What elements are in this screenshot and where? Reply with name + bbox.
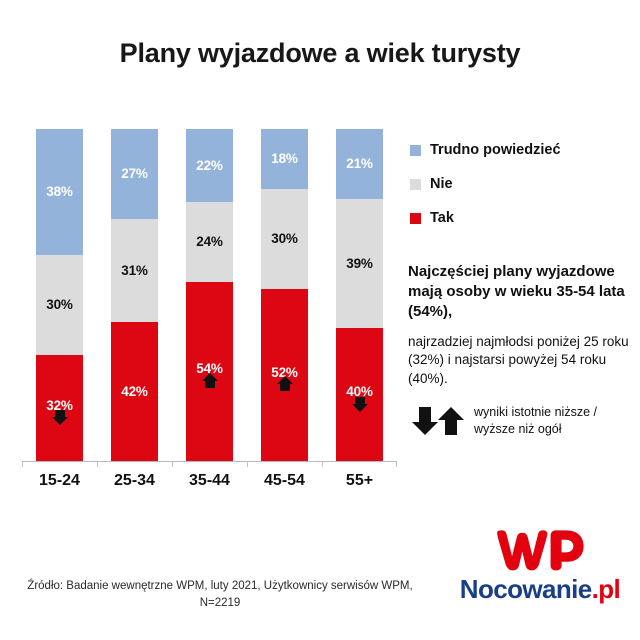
wp-logo-icon (490, 528, 586, 572)
bar-segment-trudno-powiedziec[interactable]: 18% (261, 129, 308, 189)
x-axis-label-35-44: 35-44 (172, 472, 247, 490)
arrow-down-icon (412, 407, 438, 435)
legend-item-tak[interactable]: Tak (410, 210, 630, 226)
significance-note: wyniki istotnie niższe / wyższe niż ogół (410, 404, 636, 438)
bar-value-label: 22% (196, 159, 222, 173)
bar-segment-trudno-powiedziec[interactable]: 21% (336, 129, 383, 199)
significance-arrows (410, 404, 466, 438)
chart-plot-area: 38% 30% 32% 27% 31% 42% 22% 24% 54% (22, 130, 397, 462)
legend-swatch-icon (410, 179, 421, 190)
x-axis-tick (172, 462, 173, 467)
legend-swatch-icon (410, 145, 421, 156)
legend-label: Trudno powiedzieć (430, 142, 561, 158)
bar-segment-nie[interactable]: 30% (261, 189, 308, 289)
legend-item-trudno-powiedziec[interactable]: Trudno powiedzieć (410, 142, 630, 158)
bar-segment-tak[interactable]: 42% (111, 322, 158, 461)
brand-name: Nocowanie (460, 574, 592, 604)
legend-label: Nie (430, 176, 453, 192)
source-note: Źródło: Badanie wewnętrzne WPM, luty 202… (20, 578, 420, 613)
bar-group-35-44[interactable]: 22% 24% 54% (186, 129, 233, 461)
x-axis-label-25-34: 25-34 (97, 472, 172, 490)
commentary-panel: Najczęściej plany wyjazdowe mają osoby w… (408, 262, 634, 389)
legend-item-nie[interactable]: Nie (410, 176, 630, 192)
legend-label: Tak (430, 210, 454, 226)
significance-note-text: wyniki istotnie niższe / wyższe niż ogół (474, 404, 636, 438)
arrow-up-icon (438, 407, 464, 435)
bar-group-55-plus[interactable]: 21% 39% 40% (336, 129, 383, 461)
bar-segment-tak[interactable]: 40% (336, 328, 383, 461)
commentary-headline: Najczęściej plany wyjazdowe mają osoby w… (408, 262, 634, 322)
bar-value-label: 18% (271, 152, 297, 166)
brand-wordmark: Nocowanie.pl (452, 574, 628, 605)
brand-tld: .pl (592, 574, 621, 604)
legend-swatch-icon (410, 213, 421, 224)
bar-value-label: 27% (121, 167, 147, 181)
brand-logo[interactable]: Nocowanie.pl (452, 528, 628, 610)
bar-group-25-34[interactable]: 27% 31% 42% (111, 129, 158, 461)
bar-value-label: 38% (46, 185, 72, 199)
x-axis-line (22, 461, 397, 462)
bar-value-label: 31% (121, 264, 147, 278)
bar-segment-trudno-powiedziec[interactable]: 38% (36, 129, 83, 255)
bar-segment-nie[interactable]: 24% (186, 202, 233, 282)
x-axis-labels: 15-24 25-34 35-44 45-54 55+ (22, 472, 397, 498)
commentary-body: najrzadziej najmłodsi poniżej 25 roku (3… (408, 333, 634, 389)
chart-legend: Trudno powiedzieć Nie Tak (410, 142, 630, 244)
bar-value-label: 30% (46, 298, 72, 312)
page-title: Plany wyjazdowe a wiek turysty (0, 38, 640, 69)
bar-segment-nie[interactable]: 31% (111, 219, 158, 322)
bar-group-15-24[interactable]: 38% 30% 32% (36, 129, 83, 461)
x-axis-tick (322, 462, 323, 467)
bar-value-label: 21% (346, 157, 372, 171)
bar-segment-nie[interactable]: 39% (336, 199, 383, 328)
x-axis-tick (22, 462, 23, 467)
bar-segment-tak[interactable]: 54% (186, 282, 233, 461)
x-axis-label-15-24: 15-24 (22, 472, 97, 490)
bar-segment-nie[interactable]: 30% (36, 255, 83, 355)
bar-segment-tak[interactable]: 32% (36, 355, 83, 461)
bar-value-label: 42% (121, 385, 147, 399)
bar-group-45-54[interactable]: 18% 30% 52% (261, 129, 308, 461)
bar-segment-trudno-powiedziec[interactable]: 27% (111, 129, 158, 219)
bar-segment-tak[interactable]: 52% (261, 289, 308, 461)
bar-segment-trudno-powiedziec[interactable]: 22% (186, 129, 233, 202)
bar-value-label: 39% (346, 257, 372, 271)
bar-value-label: 30% (271, 232, 297, 246)
x-axis-label-45-54: 45-54 (247, 472, 322, 490)
x-axis-label-55-plus: 55+ (322, 472, 397, 490)
bar-value-label: 24% (196, 235, 222, 249)
x-axis-tick (97, 462, 98, 467)
x-axis-tick (247, 462, 248, 467)
x-axis-tick (396, 462, 397, 467)
